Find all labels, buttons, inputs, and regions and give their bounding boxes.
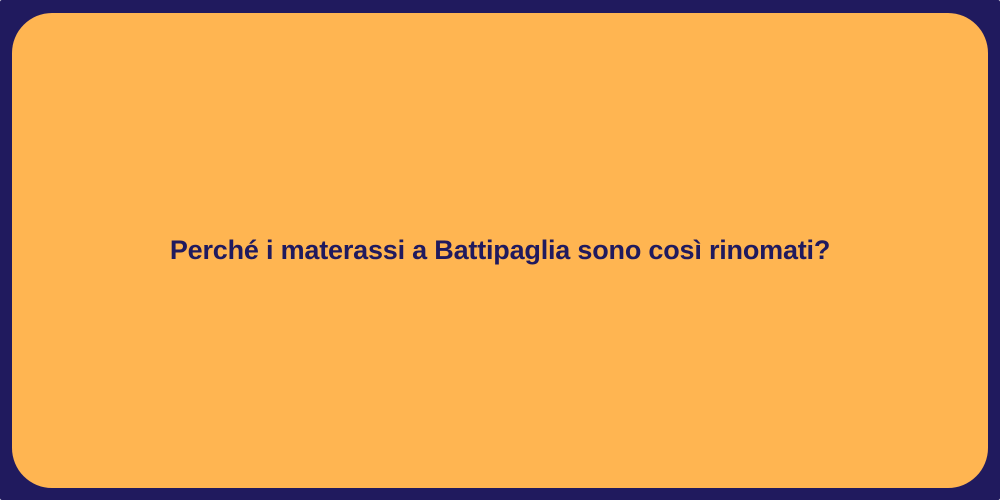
banner-panel: Perché i materassi a Battipaglia sono co… — [12, 13, 988, 488]
page-title: Perché i materassi a Battipaglia sono co… — [170, 232, 830, 268]
banner-frame: Perché i materassi a Battipaglia sono co… — [0, 0, 1000, 500]
